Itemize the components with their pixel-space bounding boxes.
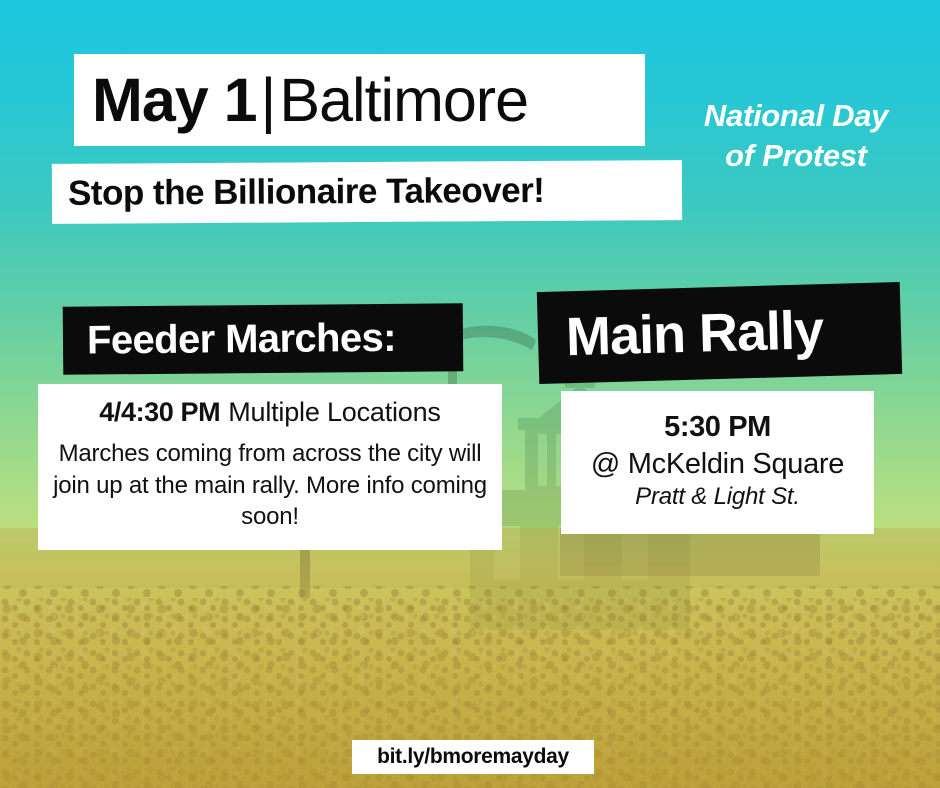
feeder-description: Marches coming from across the city will… bbox=[52, 438, 488, 533]
subtitle: Stop the Billionaire Takeover! bbox=[68, 171, 545, 214]
feeder-time: 4/4:30 PM bbox=[99, 397, 220, 427]
main-rally-heading: Main Rally bbox=[565, 299, 824, 368]
feeder-time-location: 4/4:30 PMMultiple Locations bbox=[99, 397, 441, 428]
feeder-location: Multiple Locations bbox=[220, 397, 441, 427]
tagline-line-2: of Protest bbox=[662, 136, 930, 176]
title-light: Baltimore bbox=[279, 66, 528, 134]
rally-cross-streets: Pratt & Light St. bbox=[635, 483, 800, 511]
rally-time: 5:30 PM bbox=[664, 411, 771, 444]
sponsor-logo-strip: UNITE 7 LOCAL HERE! tabc Teachers Associ… bbox=[0, 608, 940, 708]
main-rally-banner: Main Rally bbox=[537, 282, 902, 384]
title-separator: | bbox=[257, 66, 280, 134]
main-rally-panel: 5:30 PM @ McKeldin Square Pratt & Light … bbox=[561, 391, 874, 534]
short-url[interactable]: bit.ly/bmoremayday bbox=[377, 745, 569, 769]
subtitle-plate: Stop the Billionaire Takeover! bbox=[52, 160, 682, 224]
tagline: National Day of Protest bbox=[662, 96, 930, 175]
rally-venue: @ McKeldin Square bbox=[591, 448, 844, 481]
protest-flyer: May 1|Baltimore Stop the Billionaire Tak… bbox=[0, 0, 940, 788]
feeder-marches-heading: Feeder Marches: bbox=[87, 315, 396, 363]
feeder-marches-banner: Feeder Marches: bbox=[63, 303, 464, 374]
title-bold: May 1 bbox=[92, 66, 257, 134]
page-title: May 1|Baltimore bbox=[92, 70, 528, 131]
title-plate: May 1|Baltimore bbox=[74, 54, 645, 146]
feeder-marches-panel: 4/4:30 PMMultiple Locations Marches comi… bbox=[38, 384, 502, 550]
url-plate[interactable]: bit.ly/bmoremayday bbox=[352, 740, 594, 774]
tagline-line-1: National Day bbox=[662, 96, 930, 136]
